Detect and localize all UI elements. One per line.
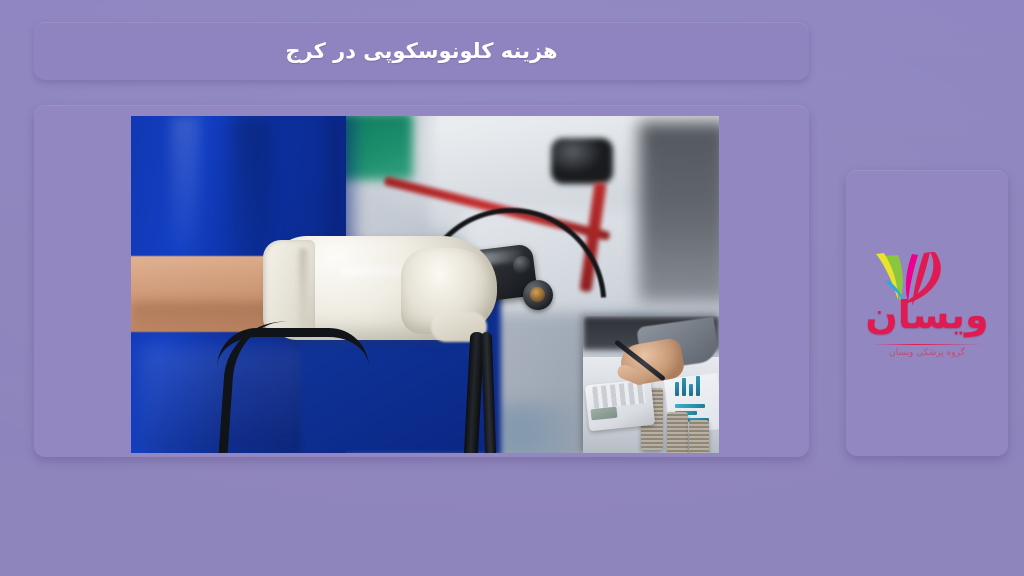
brand-tagline: گروه پزشکی ویسان	[852, 348, 1002, 358]
endoscope-button-small	[513, 256, 531, 274]
page-title-card: هزینه کلونوسکوپی در کرج	[34, 22, 809, 80]
inset-chart-bar	[675, 382, 679, 396]
inset-coin-stack	[689, 420, 709, 453]
brand-logo-card: ویسان گروه پزشکی ویسان	[846, 170, 1008, 456]
cost-calculation-inset-photo	[583, 316, 719, 453]
inset-chart-line	[675, 404, 705, 408]
endoscope-knob-center	[530, 287, 545, 302]
logo-divider	[872, 344, 982, 345]
page-title: هزینه کلونوسکوپی در کرج	[285, 39, 557, 63]
inset-chart-bar	[682, 378, 686, 396]
inset-chart-bar	[689, 384, 693, 396]
dark-equipment-right	[639, 122, 719, 302]
inset-chart-bar	[696, 376, 700, 396]
brand-name: ویسان	[852, 296, 1002, 334]
glove-wrinkle-vertical	[299, 248, 307, 328]
endoscopy-photo	[131, 116, 719, 453]
black-connector-blur	[551, 138, 613, 184]
brand-logo: ویسان گروه پزشکی ویسان	[852, 248, 1002, 378]
endoscope-cable-loop-top	[217, 328, 369, 368]
scrubs-fold-highlight	[171, 116, 199, 266]
inset-coin-stack	[667, 412, 688, 453]
